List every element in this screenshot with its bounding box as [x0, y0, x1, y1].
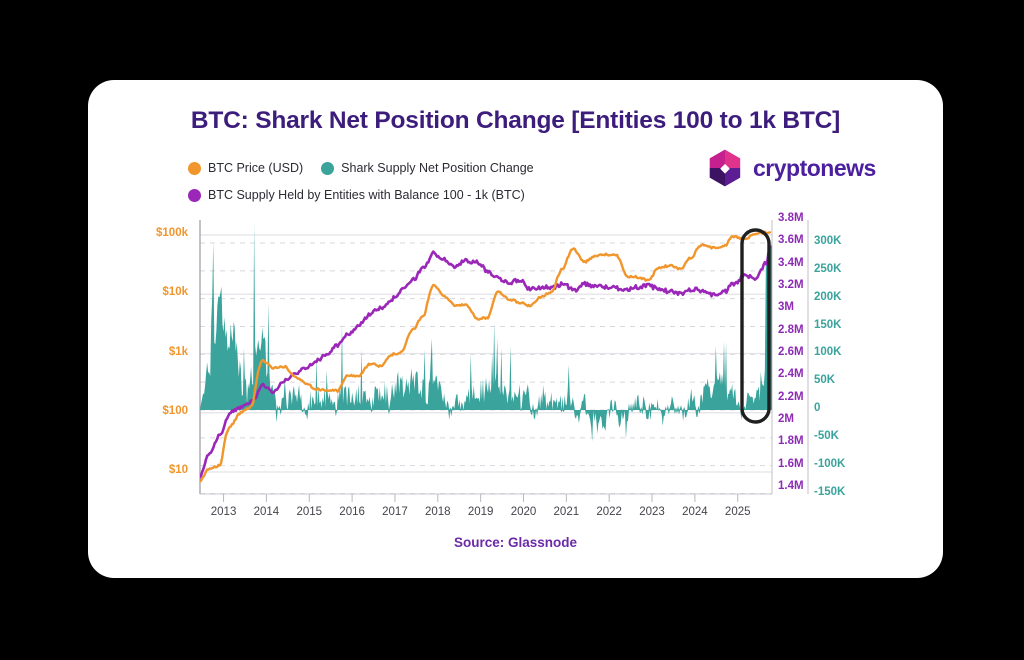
- source-note: Source: Glassnode: [88, 535, 943, 550]
- y-axis-supply-tick-label: 2.8M: [778, 324, 804, 336]
- y-axis-netchange-tick-label: 100K: [814, 346, 842, 358]
- y-axis-supply-tick-label: 2M: [778, 413, 794, 425]
- y-axis-price-tick-label: $100: [88, 405, 188, 417]
- y-axis-netchange-tick-label: 200K: [814, 291, 842, 303]
- y-axis-supply-tick-label: 2.2M: [778, 391, 804, 403]
- y-axis-netchange-tick-label: 250K: [814, 263, 842, 275]
- y-axis-supply-tick-label: 3.6M: [778, 234, 804, 246]
- y-axis-price-tick-label: $10k: [88, 286, 188, 298]
- chart-plot-area[interactable]: 2013201420152016201720182019202020212022…: [88, 80, 943, 578]
- y-axis-supply-tick-label: 3.2M: [778, 279, 804, 291]
- y-axis-netchange-tick-label: -150K: [814, 486, 845, 498]
- y-axis-supply-tick-label: 3M: [778, 301, 794, 313]
- y-axis-netchange-tick-label: 0: [814, 402, 820, 414]
- y-axis-supply-tick-label: 3.8M: [778, 212, 804, 224]
- y-axis-netchange-tick-label: -50K: [814, 430, 839, 442]
- y-axis-supply-tick-label: 2.6M: [778, 346, 804, 358]
- y-axis-netchange-tick-label: 300K: [814, 235, 842, 247]
- y-axis-supply-tick-label: 2.4M: [778, 368, 804, 380]
- y-axis-price-tick-label: $100k: [88, 227, 188, 239]
- chart-card: BTC: Shark Net Position Change [Entities…: [88, 80, 943, 578]
- y-axis-supply-tick-label: 1.8M: [778, 435, 804, 447]
- y-axis-price-tick-label: $1k: [88, 346, 188, 358]
- y-axis-price-tick-label: $10: [88, 464, 188, 476]
- y-axis-supply-tick-label: 1.4M: [778, 480, 804, 492]
- y-axis-netchange-tick-label: 150K: [814, 319, 842, 331]
- y-axis-netchange-tick-label: -100K: [814, 458, 845, 470]
- x-axis-tick-label: 2025: [708, 506, 768, 518]
- y-axis-supply-tick-label: 1.6M: [778, 458, 804, 470]
- screenshot-stage: BTC: Shark Net Position Change [Entities…: [0, 0, 1024, 660]
- y-axis-netchange-tick-label: 50K: [814, 374, 835, 386]
- y-axis-supply-tick-label: 3.4M: [778, 257, 804, 269]
